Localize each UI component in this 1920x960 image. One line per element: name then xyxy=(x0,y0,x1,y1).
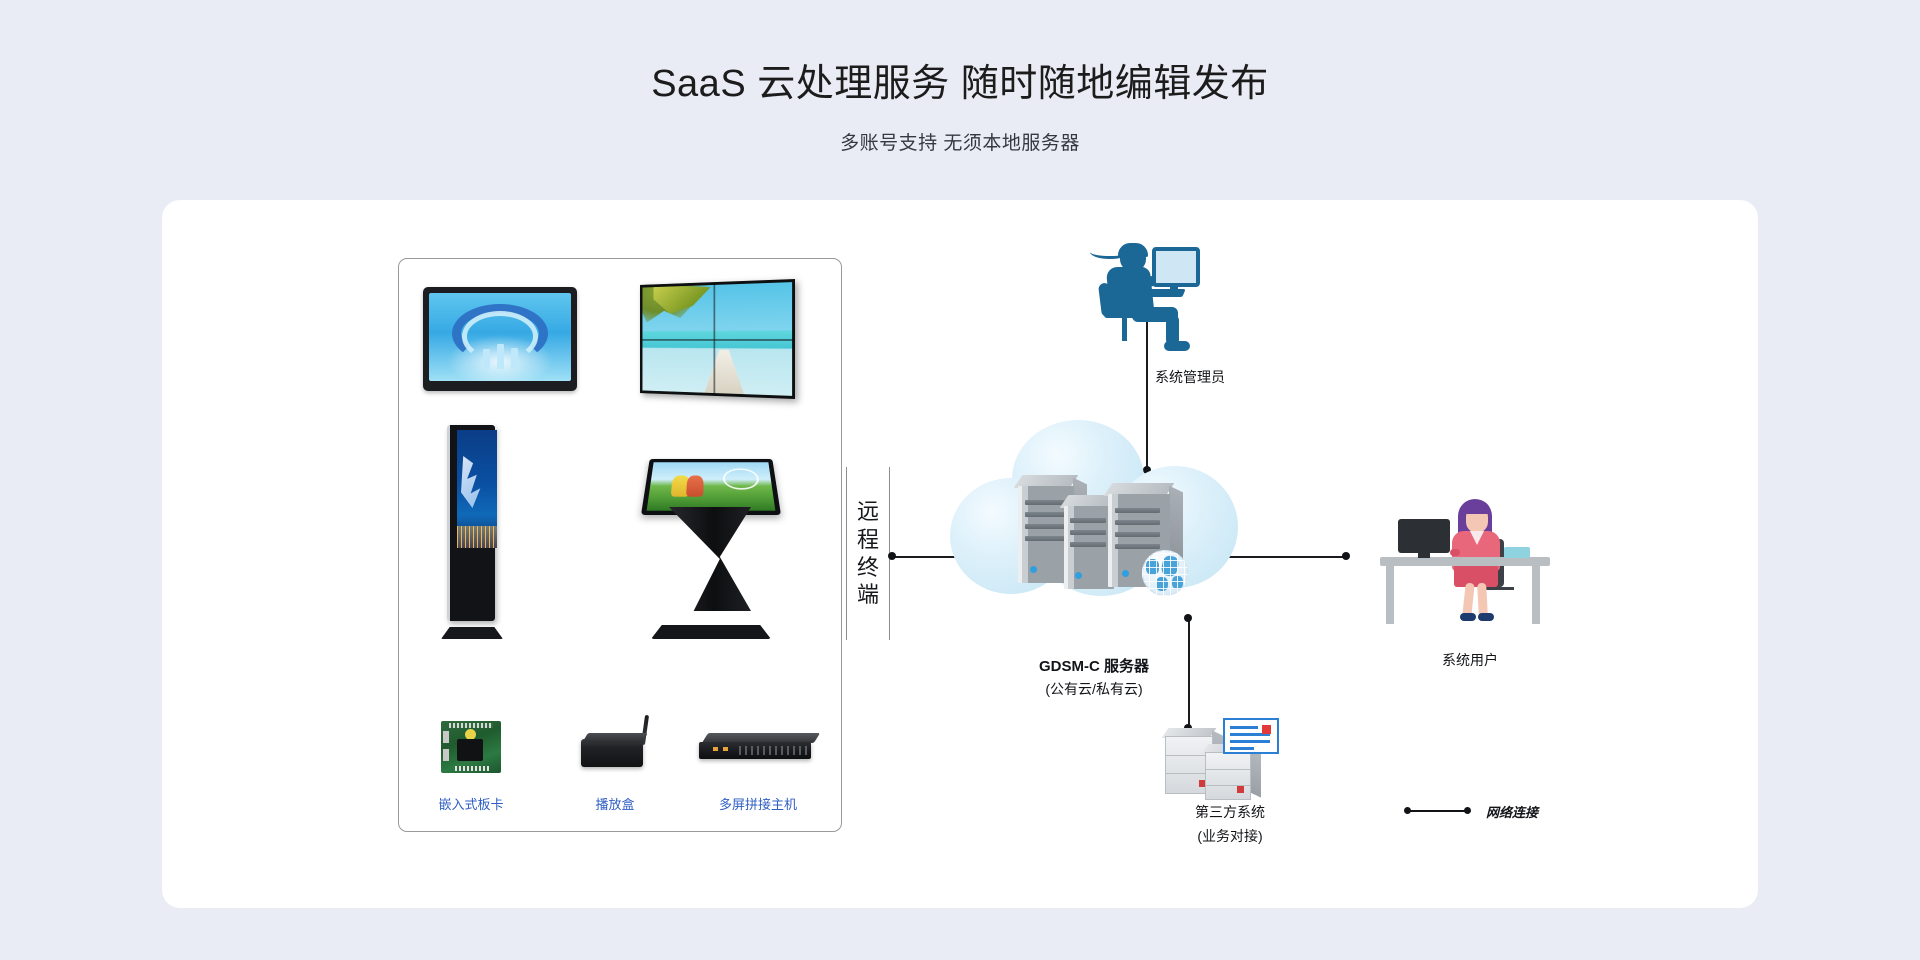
legend-label: 网络连接 xyxy=(1486,802,1538,821)
device-label-multi-screen-splicing-host: 多屏拼接主机 xyxy=(693,794,823,813)
server-slot xyxy=(1115,520,1160,525)
connection-node-terminal xyxy=(888,552,896,560)
device-label-embedded-board: 嵌入式板卡 xyxy=(421,794,521,813)
video-wall-seam-horizontal xyxy=(642,339,792,341)
device-embedded-board xyxy=(441,721,501,773)
remote-terminal-char-3: 终 xyxy=(857,556,879,580)
document-line xyxy=(1230,740,1270,743)
board-header-pins-bottom xyxy=(455,766,489,771)
admin-foot xyxy=(1164,341,1190,351)
server-slot xyxy=(1070,530,1106,535)
totem-base xyxy=(441,627,503,639)
device-flat-panel-display xyxy=(423,287,577,391)
server-face-2 xyxy=(1064,506,1114,589)
user-shoe-right xyxy=(1478,613,1494,621)
pier-graphic xyxy=(705,350,744,394)
remote-terminal-char-4: 端 xyxy=(857,583,879,607)
document-line xyxy=(1230,726,1258,729)
user-monitor-icon xyxy=(1398,519,1450,553)
rack-face xyxy=(699,742,811,759)
legend: 网络连接 xyxy=(1400,800,1610,822)
palm-leaf-graphic-2 xyxy=(653,283,710,327)
kiosk-stand xyxy=(669,507,751,611)
third-party-system-label: 第三方系统 xyxy=(1120,802,1340,822)
user-mouse-icon xyxy=(1450,549,1460,556)
kiosk-screen-content xyxy=(647,462,776,510)
user-book-icon xyxy=(1504,547,1530,558)
board-port-1 xyxy=(443,731,449,743)
document-line xyxy=(1230,747,1254,750)
remote-terminal-char-1: 远 xyxy=(857,500,879,524)
document-stamp xyxy=(1262,725,1271,734)
rack-led-1 xyxy=(713,747,718,751)
cabinet-divider xyxy=(1206,769,1250,770)
page-root: SaaS 云处理服务 随时随地编辑发布 多账号支持 无须本地服务器 xyxy=(0,0,1920,960)
remote-terminal-devices-panel: 嵌入式板卡 播放盒 多屏拼接主机 xyxy=(398,258,842,832)
document-icon xyxy=(1223,718,1279,754)
server-slot xyxy=(1025,524,1065,529)
cabinet-led xyxy=(1237,786,1244,793)
admin-monitor-icon xyxy=(1152,247,1200,287)
device-touch-kiosk xyxy=(635,441,785,639)
rack-led-2 xyxy=(723,747,728,751)
server-slot xyxy=(1025,512,1065,517)
user-desk-top xyxy=(1380,557,1550,566)
player-box-top xyxy=(582,733,648,743)
user-monitor-stand xyxy=(1418,551,1430,558)
user-desk-leg-left xyxy=(1386,566,1394,624)
server-slot xyxy=(1025,536,1065,541)
device-standing-digital-signage xyxy=(441,425,503,639)
globe-grid-lines xyxy=(1142,550,1188,596)
cabinet-face xyxy=(1205,752,1251,800)
server-slot xyxy=(1025,500,1065,505)
totem-body xyxy=(447,425,495,621)
user-shoe-left xyxy=(1460,613,1476,621)
device-multi-screen-splicing-host xyxy=(699,733,817,763)
server-unit-2 xyxy=(1064,495,1114,589)
globe-icon xyxy=(1142,550,1188,596)
chair-pole xyxy=(1122,315,1127,341)
legend-dot-end xyxy=(1464,807,1471,814)
board-port-2 xyxy=(443,749,449,761)
page-subtitle: 多账号支持 无须本地服务器 xyxy=(0,128,1920,155)
diagram-card: 嵌入式板卡 播放盒 多屏拼接主机 远 程 终 端 xyxy=(162,200,1758,908)
connection-node-user xyxy=(1342,552,1350,560)
admin-keyboard-icon xyxy=(1134,289,1185,297)
device-label-media-player-box: 播放盒 xyxy=(565,794,665,813)
totem-artwork xyxy=(461,456,483,508)
video-wall-screen xyxy=(642,282,792,396)
remote-terminal-label: 远 程 终 端 xyxy=(846,467,890,640)
legend-dot-start xyxy=(1404,807,1411,814)
system-administrator-label: 系统管理员 xyxy=(1080,367,1300,387)
server-slot xyxy=(1070,518,1106,523)
server-slot xyxy=(1115,508,1160,513)
system-administrator-icon xyxy=(1090,245,1210,360)
cloud-server-sublabel: (公有云/私有云) xyxy=(950,679,1238,699)
bottle-2 xyxy=(497,344,504,369)
player-box-body xyxy=(581,739,643,767)
display-screen xyxy=(429,293,571,381)
server-slot xyxy=(1070,542,1106,547)
bottle-1 xyxy=(483,349,490,368)
remote-terminal-char-2: 程 xyxy=(857,528,879,552)
legend-line xyxy=(1408,810,1468,812)
server-slot xyxy=(1115,544,1160,549)
kiosk-person-2 xyxy=(686,476,704,497)
third-party-system-icon xyxy=(1165,718,1275,800)
device-media-player-box xyxy=(581,729,649,769)
kiosk-speech-bubble xyxy=(723,468,760,490)
device-video-wall xyxy=(617,279,795,399)
totem-screen xyxy=(457,430,497,548)
third-party-system-sublabel: (业务对接) xyxy=(1120,826,1340,846)
server-led xyxy=(1030,566,1037,573)
video-wall-frame xyxy=(640,279,795,399)
server-led xyxy=(1075,572,1082,579)
system-user-icon xyxy=(1380,495,1550,625)
page-title: SaaS 云处理服务 随时随地编辑发布 xyxy=(0,52,1920,107)
cabinet-side xyxy=(1250,746,1261,797)
cloud-server-label: GDSM-C 服务器 xyxy=(950,655,1238,676)
kiosk-foot xyxy=(651,625,771,639)
server-slot xyxy=(1115,532,1160,537)
bottle-3 xyxy=(511,348,518,369)
kiosk-screen-frame xyxy=(641,459,781,515)
user-skirt xyxy=(1454,565,1498,587)
system-user-label: 系统用户 xyxy=(1360,650,1580,670)
user-desk-leg-right xyxy=(1532,566,1540,624)
board-chip xyxy=(457,739,483,761)
server-led xyxy=(1122,570,1129,577)
user-fringe xyxy=(1464,501,1490,514)
board-header-pins-top xyxy=(449,723,493,728)
